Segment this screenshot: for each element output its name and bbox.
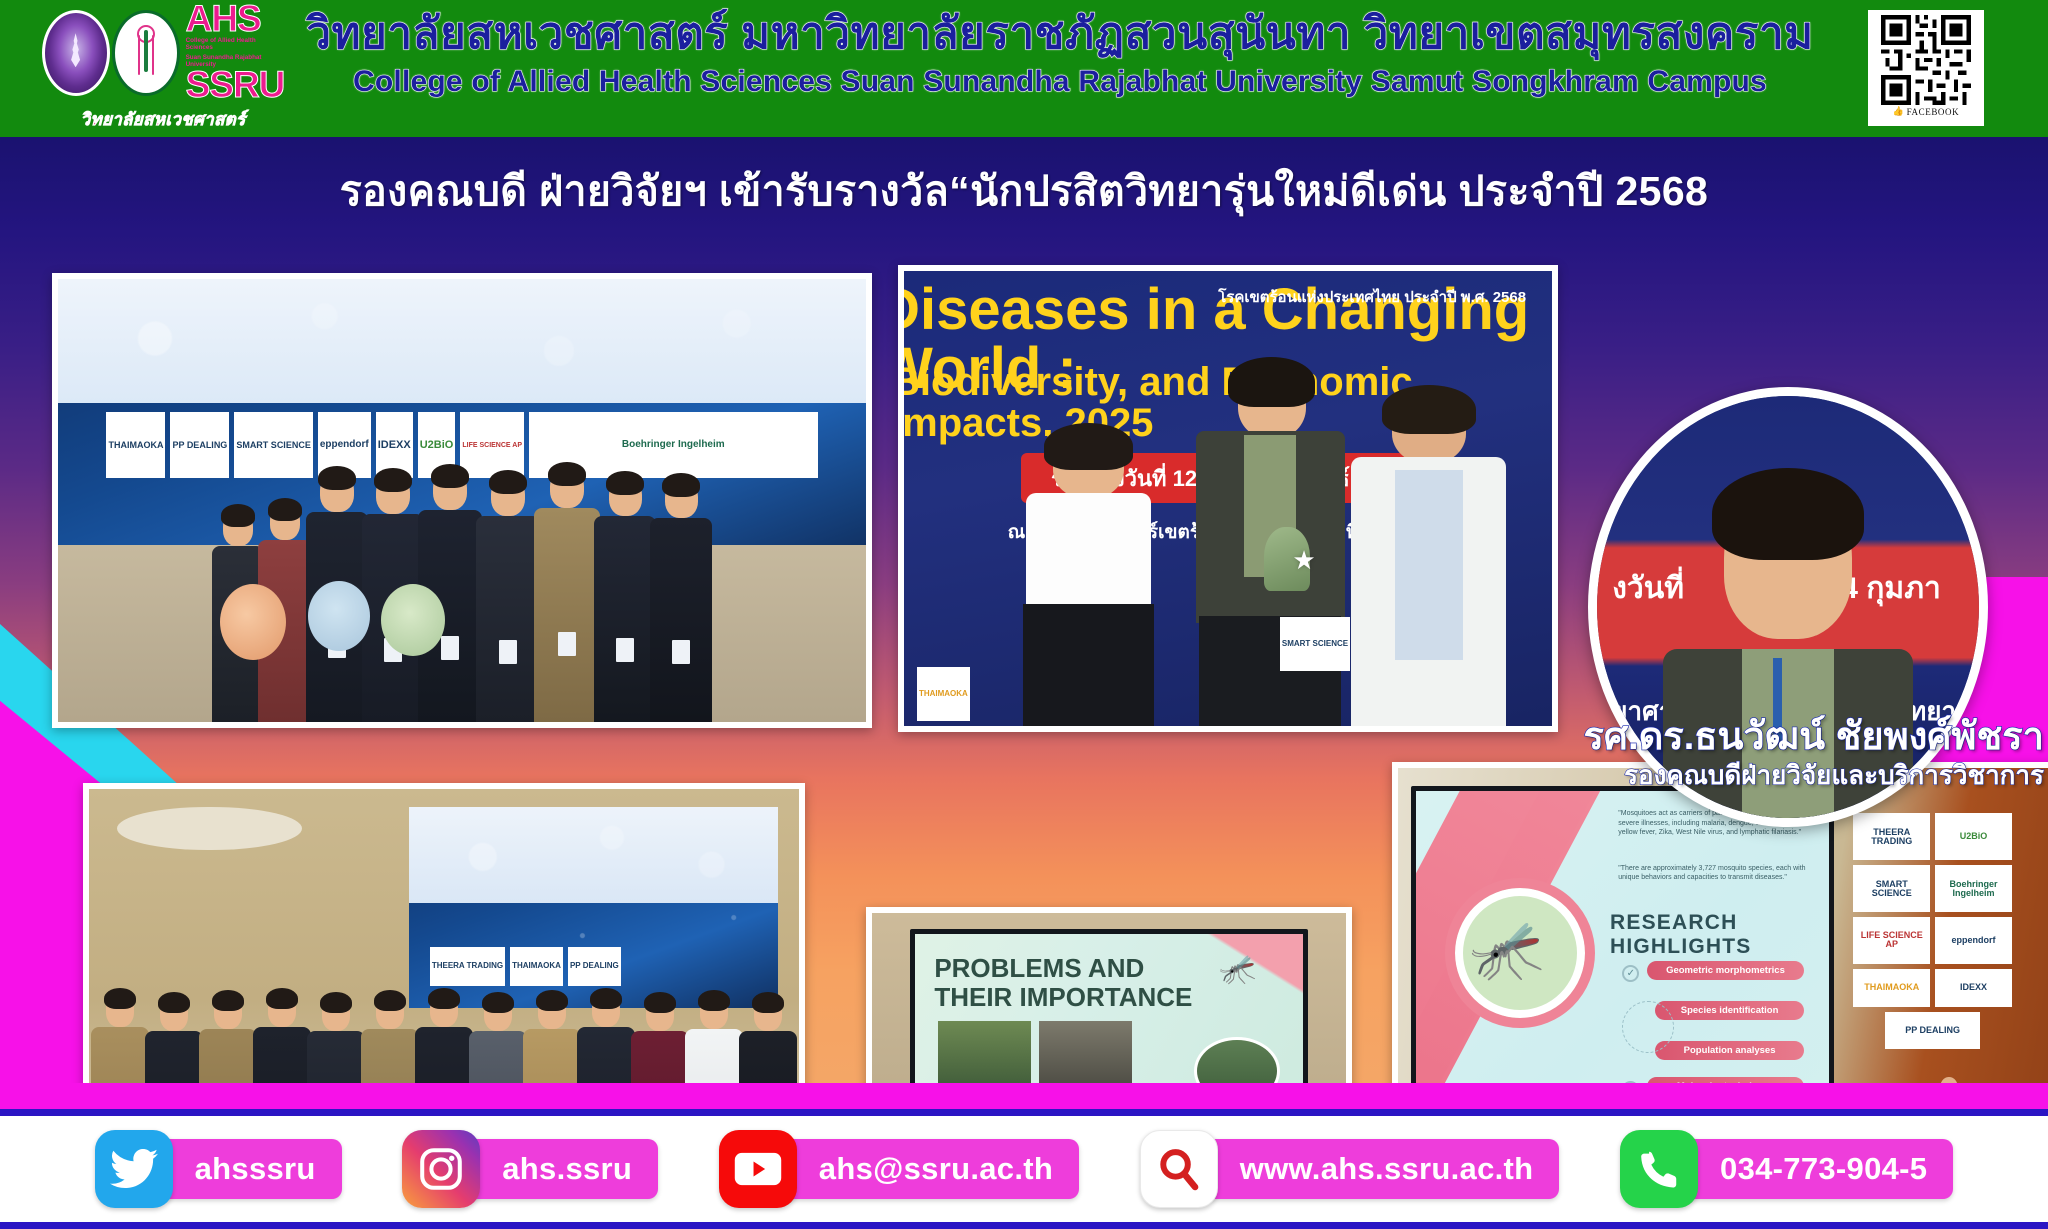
sponsor-logo: THAIMAOKA	[1853, 969, 1930, 1007]
youtube-handle[interactable]: ahs@ssru.ac.th	[781, 1139, 1079, 1199]
slide-title: RESEARCH HIGHLIGHTS	[1610, 911, 1829, 959]
twitter-handle[interactable]: ahsssru	[157, 1139, 342, 1199]
sponsor-logo: SMART SCIENCE	[1280, 617, 1350, 672]
sponsor-wall: THEERA TRADING U2BiO SMART SCIENCE Boehr…	[1853, 813, 2011, 1049]
photo-award-presentation: Diseases in a Changing World : Biodivers…	[898, 265, 1558, 732]
header-english-title: College of Allied Health Sciences Suan S…	[300, 64, 1820, 100]
header-thai-title: วิทยาลัยสหเวชศาสตร์ มหาวิทยาลัยราชภัฏสวน…	[300, 6, 1820, 62]
search-icon[interactable]	[1140, 1130, 1218, 1208]
photo-slide-problems: PROBLEMS AND THEIR IMPORTANCE 🦟 "However…	[866, 907, 1352, 1109]
instagram-handle[interactable]: ahs.ssru	[464, 1139, 658, 1199]
sponsor-logo: eppendorf	[1935, 917, 2012, 964]
phone-number[interactable]: 034-773-904-5	[1682, 1139, 1953, 1199]
poster-page: AHS College of Allied Health Sciences Su…	[0, 0, 2048, 1229]
phone-icon[interactable]	[1620, 1130, 1698, 1208]
slide-bullet: Species identification	[1655, 1001, 1803, 1020]
sponsor-logo: SMART SCIENCE	[1853, 865, 1930, 912]
logo-acronym-ssru: SSRU	[186, 69, 285, 102]
institution-logo: AHS College of Allied Health Sciences Su…	[52, 4, 274, 132]
backdrop-thai-line1: โรคเขตร้อนแห่งประเทศไทย ประจำปี พ.ศ. 256…	[1202, 285, 1526, 309]
sponsor-logo: PP DEALING	[1885, 1012, 1980, 1050]
sponsor-logo: THAIMAOKA	[917, 667, 970, 722]
person-name-block: รศ.ดร.ธนวัฒน์ ชัยพงศ์พัชรา รองคณบดีฝ่ายว…	[1400, 717, 2048, 791]
qr-label-text: FACEBOOK	[1907, 107, 1960, 117]
social-twitter[interactable]: ahsssru	[95, 1130, 342, 1208]
slide-quote-2: "There are approximately 3,727 mosquito …	[1618, 864, 1816, 883]
photo-group-award-stage: THAIMAOKA PP DEALING SMART SCIENCE eppen…	[52, 273, 872, 728]
facebook-qr-code[interactable]: 👍 FACEBOOK	[1868, 10, 1984, 126]
projection-screen: PROBLEMS AND THEIR IMPORTANCE 🦟 "However…	[910, 929, 1308, 1110]
sponsor-logo: LIFE SCIENCE AP	[1853, 917, 1930, 964]
social-phone[interactable]: 034-773-904-5	[1620, 1130, 1953, 1208]
projection-screen: 🦟 "Mosquitoes act as carriers of pathoge…	[1411, 786, 1833, 1109]
youtube-icon[interactable]	[719, 1130, 797, 1208]
qr-code-icon	[1874, 15, 1978, 105]
footer-magenta-strip	[0, 1083, 2048, 1109]
qr-caption: 👍 FACEBOOK	[1893, 106, 1959, 117]
logo-subtitle-en-1: College of Allied Health Sciences	[186, 37, 285, 52]
person-name: รศ.ดร.ธนวัฒน์ ชัยพงศ์พัชรา	[1400, 717, 2044, 759]
logo-thai-caption: วิทยาลัยสหเวชศาสตร์	[81, 106, 246, 133]
poster-body: รองคณบดี ฝ่ายวิจัยฯ เข้ารับรางวัล“นักปรส…	[0, 137, 2048, 1109]
caduceus-seal-icon	[112, 10, 180, 96]
photo-group-trophy-line: THEERA TRADING THAIMAOKA PP DEALING	[83, 783, 805, 1109]
social-instagram[interactable]: ahs.ssru	[402, 1130, 658, 1208]
header-bar: AHS College of Allied Health Sciences Su…	[0, 0, 2048, 137]
social-youtube[interactable]: ahs@ssru.ac.th	[719, 1130, 1079, 1208]
footer-bar: ahsssru ahs.ssru ahs@ssru.ac.th www.ahs.…	[0, 1109, 2048, 1229]
social-website[interactable]: www.ahs.ssru.ac.th	[1140, 1130, 1560, 1208]
slide-bullet: Geometric morphometrics	[1647, 961, 1804, 980]
slide-title-line1: PROBLEMS AND	[934, 954, 1144, 982]
twitter-icon[interactable]	[95, 1130, 173, 1208]
sponsor-logo: U2BiO	[1935, 813, 2012, 860]
award-trophy	[1264, 527, 1310, 591]
headline-container: รองคณบดี ฝ่ายวิจัยฯ เข้ารับรางวัล“นักปรส…	[0, 137, 2048, 224]
person-position: รองคณบดีฝ่ายวิจัยและบริการวิชาการ	[1400, 761, 2044, 791]
sponsor-logo: IDEXX	[1935, 969, 2012, 1007]
slide-title-line2: THEIR IMPORTANCE	[934, 983, 1192, 1011]
website-url[interactable]: www.ahs.ssru.ac.th	[1202, 1139, 1560, 1199]
header-title-group: วิทยาลัยสหเวชศาสตร์ มหาวิทยาลัยราชภัฏสวน…	[300, 6, 1820, 100]
mosquito-illustration-icon: 🦟	[1219, 952, 1256, 987]
headline-text: รองคณบดี ฝ่ายวิจัยฯ เข้ารับรางวัล“นักปรส…	[340, 159, 1709, 224]
mosquito-illustration-icon: 🦟	[1470, 914, 1545, 985]
instagram-icon[interactable]	[402, 1130, 480, 1208]
sponsor-logo: Boehringer Ingelheim	[1935, 865, 2012, 912]
sponsor-logo: THEERA TRADING	[1853, 813, 1930, 860]
royal-seal-icon	[42, 10, 110, 96]
slide-bullet: Population analyses	[1655, 1041, 1803, 1060]
logo-acronym-ahs: AHS	[186, 3, 285, 36]
thumbs-up-icon: 👍	[1893, 106, 1905, 117]
